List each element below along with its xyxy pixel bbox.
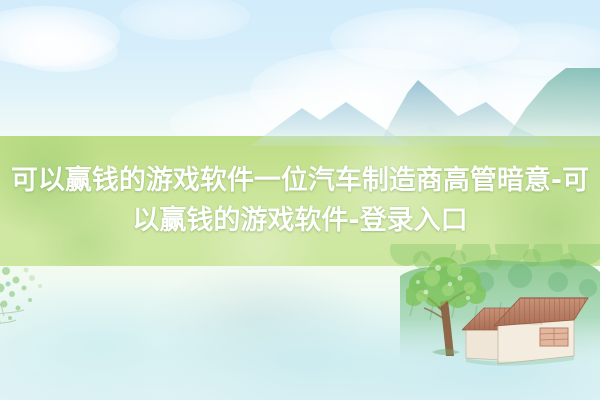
ground-mint-wash	[0, 276, 260, 400]
ground-mint-wash	[330, 310, 600, 400]
headline: 可以赢钱的游戏软件一位汽车制造商高管暗意-可 以赢钱的游戏软件-登录入口	[0, 136, 600, 266]
ground-mint-wash	[150, 292, 480, 400]
ground-grey-wash	[150, 266, 370, 380]
ground-wash	[0, 266, 600, 400]
banner-image: 可以赢钱的游戏软件一位汽车制造商高管暗意-可 以赢钱的游戏软件-登录入口	[0, 0, 600, 400]
headline-line-2: 以赢钱的游戏软件-登录入口	[132, 201, 467, 241]
headline-line-1: 可以赢钱的游戏软件一位汽车制造商高管暗意-可	[11, 161, 589, 201]
